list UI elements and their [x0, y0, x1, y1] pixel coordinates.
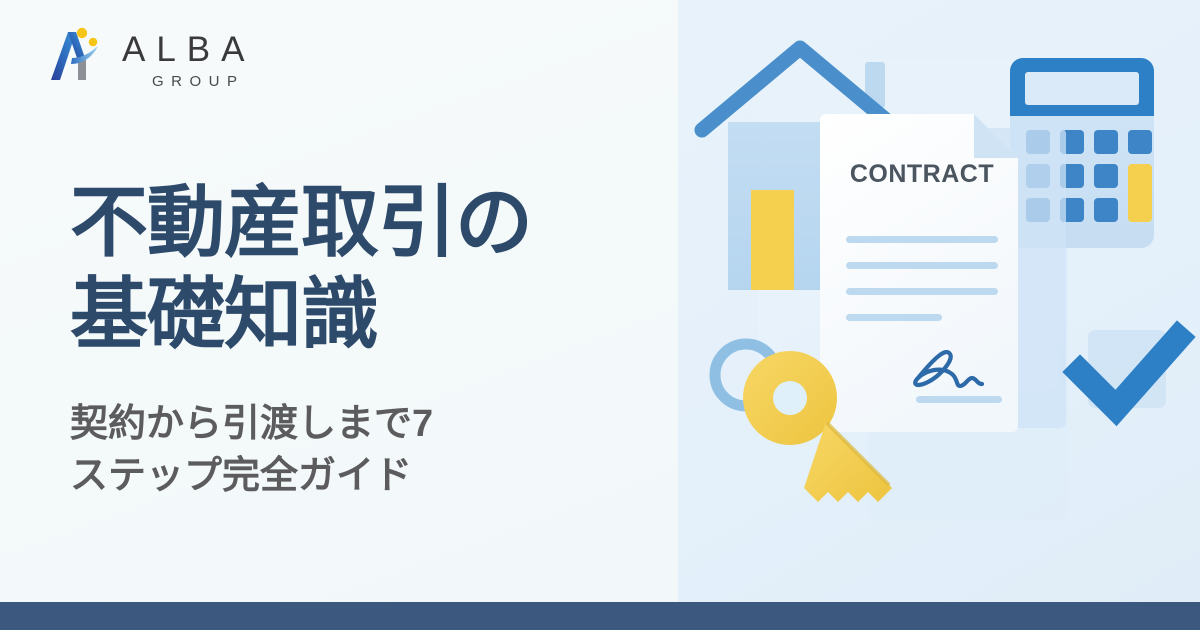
hero-illustration: CONTRACT: [678, 0, 1200, 602]
page-title: 不動産取引の 基礎知識: [70, 176, 650, 360]
bottom-accent-bar: [0, 602, 1200, 630]
brand-logo-text: ALBA GROUP: [122, 32, 302, 92]
brand-suffix: GROUP: [152, 74, 302, 89]
signature-line: [916, 396, 1002, 403]
checkmark-icon: [1080, 330, 1178, 408]
contract-document-icon: CONTRACT: [820, 114, 1066, 432]
document-label: CONTRACT: [850, 160, 994, 188]
page-subtitle: 契約から引渡しまで7 ステップ完全ガイド: [70, 398, 590, 503]
brand-name: ALBA: [122, 32, 302, 67]
banner-root: ALBA GROUP 不動産取引の 基礎知識 契約から引渡しまで7 ステップ完全…: [0, 0, 1200, 630]
alba-a-mark-icon: [38, 18, 110, 90]
brand-logo[interactable]: ALBA GROUP: [38, 18, 308, 92]
